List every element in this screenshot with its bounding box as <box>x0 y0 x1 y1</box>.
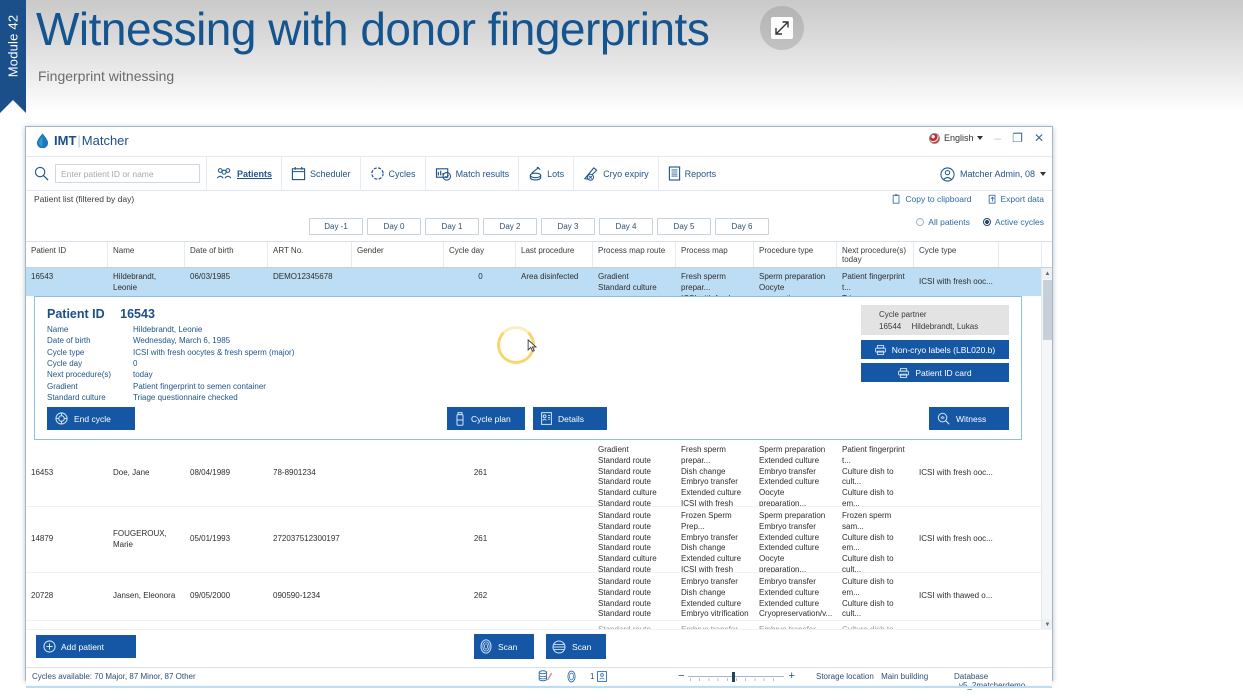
detail-title-label: Patient ID <box>47 307 105 321</box>
record-counter: 1 <box>590 671 607 682</box>
cycle-partner-box: Cycle partner 16544 Hildebrandt, Lukas <box>861 305 1009 335</box>
col-last-procedure[interactable]: Last procedure <box>516 242 593 267</box>
radio-all-patients-label: All patients <box>928 217 970 227</box>
table-row[interactable]: 14879 FOUGEROUX, Marie 05/01/1993 272037… <box>26 507 1052 573</box>
table-body: 16543 Hildebrandt, Leonie 06/03/1985 DEM… <box>26 268 1052 630</box>
cell-gender <box>352 268 444 296</box>
cell-process-map: Fresh sperm prepar... ICSI with fresh oo… <box>676 268 754 296</box>
detail-value: today <box>133 369 153 380</box>
module-tab-label: Module 42 <box>6 15 21 78</box>
zoom-track[interactable] <box>688 672 784 682</box>
detail-key: Cycle day <box>47 358 133 369</box>
export-icon <box>988 194 997 204</box>
detail-key: Standard culture <box>47 392 133 403</box>
match-results-icon <box>435 166 452 181</box>
close-button[interactable]: ✕ <box>1034 132 1044 144</box>
scrollbar-thumb[interactable] <box>1043 280 1052 340</box>
nav-label-patients: Patients <box>237 169 272 179</box>
non-cryo-labels-button[interactable]: Non-cryo labels (LBL020.b) <box>861 340 1009 359</box>
plus-circle-icon <box>43 640 56 653</box>
nav-item-patients[interactable]: Patients <box>206 157 281 191</box>
cell-next-procedures: Patient fingerprint t... Triage question… <box>837 268 914 296</box>
storage-location-value: Main building <box>876 672 928 681</box>
cell-name: Jansen, Eleonora <box>108 573 185 620</box>
cell-art-no: DEMO12345678 <box>268 268 352 296</box>
barcode-scan-icon <box>552 640 566 654</box>
witness-label: Witness <box>956 414 986 424</box>
col-process-map[interactable]: Process map <box>676 242 754 267</box>
page-title: Witnessing with donor fingerprints <box>36 2 709 56</box>
cell-last-procedure: Area disinfected <box>516 268 593 296</box>
details-label: Details <box>558 414 584 424</box>
calendar-icon <box>291 166 306 181</box>
radio-dot <box>916 218 924 226</box>
status-bar: Cycles available: 70 Major, 87 Minor, 87… <box>26 667 1052 685</box>
expand-icon[interactable] <box>760 6 804 50</box>
database-label: Database <box>954 672 988 681</box>
table-scrollbar[interactable]: ▲ ▼ <box>1041 268 1052 630</box>
col-cycle-day[interactable]: Cycle day <box>444 242 516 267</box>
cell-date-of-birth: 05/01/1993 <box>185 507 268 572</box>
chevron-down-icon <box>977 136 983 140</box>
cell-name: FOUGEROUX, Marie <box>108 507 185 572</box>
radio-dot <box>983 218 991 226</box>
fingerprint-status-icon[interactable] <box>567 670 576 683</box>
water-drop-icon <box>36 133 49 148</box>
search-input[interactable] <box>55 164 200 183</box>
day-tab--1[interactable]: Day -1 <box>309 218 363 235</box>
cell-patient-id: 20728 <box>26 573 108 620</box>
cell-name: Hildebrandt, Leonie <box>108 268 185 296</box>
id-card-icon <box>541 412 552 425</box>
avatar-icon <box>940 167 955 182</box>
non-cryo-labels-label: Non-cryo labels (LBL020.b) <box>892 345 995 355</box>
cell-next-procedures: Culture dish to em... Culture dish to cu… <box>837 573 914 620</box>
record-count-value: 1 <box>590 672 594 681</box>
minimize-button[interactable]: – <box>994 132 1001 144</box>
cell-process-map-route: Standard route Standard route Standard r… <box>593 507 676 572</box>
chevron-down-icon <box>1040 172 1046 176</box>
cell-process-map-route: Gradient Standard route Standard route S… <box>593 441 676 506</box>
nav-item-lots[interactable]: Lots <box>518 157 573 191</box>
cell-next-procedures: Patient fingerprint t... Culture dish to… <box>837 441 914 506</box>
scan-fingerprint-label: Scan <box>498 642 517 652</box>
add-patient-button[interactable]: Add patient <box>36 635 136 658</box>
database-edit-icon[interactable] <box>538 670 553 683</box>
printer-icon <box>875 345 886 355</box>
details-button[interactable]: Details <box>533 407 607 430</box>
detail-key: Cycle type <box>47 347 133 358</box>
col-gender[interactable]: Gender <box>352 242 444 267</box>
cell-last-procedure <box>516 507 593 572</box>
detail-value: Hildebrandt, Leonie <box>133 324 202 335</box>
cell-patient-id: 14879 <box>26 507 108 572</box>
nav-item-match-results[interactable]: Match results <box>425 157 519 191</box>
cryo-expiry-icon <box>583 166 599 181</box>
search-icon[interactable] <box>34 166 49 181</box>
app-logo: IMT|Matcher <box>36 133 129 148</box>
cell-gender <box>352 507 444 572</box>
cell-procedure-type: Sperm preparation Oocyte preparation... <box>754 268 837 296</box>
page-subtitle: Fingerprint witnessing <box>38 68 174 84</box>
cell-cycle-type: ICSI with fresh ooc... <box>914 441 999 506</box>
reports-icon <box>668 166 681 181</box>
window-titlebar: IMT|Matcher English – ❐ ✕ <box>26 127 1052 157</box>
cell-art-no: 78-8901234 <box>268 441 352 506</box>
col-name[interactable]: Name <box>108 242 185 267</box>
end-cycle-icon <box>55 412 68 425</box>
cycles-available-text: Cycles available: 70 Major, 87 Minor, 87… <box>32 672 196 681</box>
brand-suffix: Matcher <box>82 133 129 148</box>
module-tab-point <box>0 100 26 113</box>
people-icon <box>216 167 233 180</box>
patient-id-card-button[interactable]: Patient ID card <box>861 363 1009 382</box>
patient-list-label: Patient list (filtered by day) <box>34 194 134 204</box>
detail-value: Wednesday, March 6, 1985 <box>133 335 230 346</box>
fingerprint-icon <box>480 639 492 654</box>
nav-item-cycles[interactable]: Cycles <box>360 157 425 191</box>
cell-cycle-type: ICSI with fresh ooc... <box>914 507 999 572</box>
export-data-button[interactable]: Export data <box>988 194 1044 204</box>
cell-name: Doe, Jane <box>108 441 185 506</box>
radio-active-cycles[interactable]: Active cycles <box>983 217 1044 227</box>
patient-table: Patient ID Name Date of birth ART No. Ge… <box>26 241 1052 629</box>
list-toolbar: Patient list (filtered by day) Copy to c… <box>26 191 1052 211</box>
col-cycle-type[interactable]: Cycle type <box>914 242 999 267</box>
detail-value: ICSI with fresh oocytes & fresh sperm (m… <box>133 347 294 358</box>
radio-active-cycles-label: Active cycles <box>995 217 1044 227</box>
zoom-out-button[interactable]: − <box>678 671 684 682</box>
cell-process-map: Frozen Sperm Prep... Embryo transfer Dis… <box>676 507 754 572</box>
fingerprint-search-icon <box>937 412 950 425</box>
language-label: English <box>944 133 974 143</box>
cell-art-no: 090590-1234 <box>268 573 352 620</box>
table-row[interactable]: 16453 Doe, Jane 08/04/1989 78-8901234 26… <box>26 441 1052 507</box>
end-cycle-button[interactable]: End cycle <box>47 407 135 430</box>
cell-blank <box>999 507 1042 572</box>
clipboard-icon <box>892 194 901 204</box>
vial-icon <box>455 412 465 426</box>
nav-label-reports: Reports <box>685 169 717 179</box>
cell-date-of-birth: 09/05/2000 <box>185 573 268 620</box>
col-blank <box>999 242 1042 267</box>
cell-gender <box>352 441 444 506</box>
cycle-icon <box>370 166 385 181</box>
cell-process-map-route: Gradient Standard culture <box>593 268 676 296</box>
day-tab-1[interactable]: Day 1 <box>425 218 479 235</box>
cell-cycle-type: ICSI with fresh ooc... <box>914 268 999 296</box>
nav-label-scheduler: Scheduler <box>310 169 351 179</box>
main-navbar: Patients Scheduler Cycles <box>26 157 1052 191</box>
imt-matcher-window: IMT|Matcher English – ❐ ✕ <box>25 126 1053 681</box>
user-menu[interactable]: Matcher Admin, 08 <box>940 157 1046 191</box>
brand-prefix: IMT <box>54 133 76 148</box>
cell-date-of-birth: 06/03/1985 <box>185 268 268 296</box>
export-data-label: Export data <box>1001 194 1044 204</box>
cell-blank <box>999 268 1042 296</box>
zoom-in-button[interactable]: + <box>788 671 794 682</box>
radio-all-patients[interactable]: All patients <box>916 217 970 227</box>
cell-patient-id: 16543 <box>26 268 108 296</box>
detail-value: Patient fingerprint to semen container <box>133 381 266 392</box>
cell-patient-id: 16453 <box>26 441 108 506</box>
zoom-handle[interactable] <box>732 672 735 682</box>
cell-art-no: 272037512300197 <box>268 507 352 572</box>
day-tab-5[interactable]: Day 5 <box>657 218 711 235</box>
cell-process-map-route: Standard route Standard route Standard r… <box>593 573 676 620</box>
cell-cycle-day: 261 <box>444 441 516 506</box>
expand-arrow-icon <box>774 20 790 36</box>
footer-toolbar: Add patient Scan Scan <box>26 629 1052 667</box>
day-tab-3[interactable]: Day 3 <box>541 218 595 235</box>
cycle-partner-name: Hildebrandt, Lukas <box>903 322 978 331</box>
day-tab-6[interactable]: Day 6 <box>715 218 769 235</box>
mouse-cursor-icon <box>527 339 538 353</box>
detail-patient-id: 16543 <box>120 307 155 321</box>
user-name: Matcher Admin, 08 <box>960 169 1035 179</box>
cell-blank <box>999 573 1042 620</box>
detail-key: Date of birth <box>47 335 133 346</box>
day-tab-0[interactable]: Day 0 <box>367 218 421 235</box>
detail-value: 0 <box>133 358 137 369</box>
scan-barcode-label: Scan <box>572 642 591 652</box>
cell-cycle-type: ICSI with thawed o... <box>914 573 999 620</box>
nav-label-match-results: Match results <box>456 169 510 179</box>
language-selector[interactable]: English <box>929 133 984 144</box>
day-tab-2[interactable]: Day 2 <box>483 218 537 235</box>
cell-last-procedure <box>516 573 593 620</box>
detail-key: Gradient <box>47 381 133 392</box>
col-patient-id[interactable]: Patient ID <box>26 242 108 267</box>
day-filter-bar: Day -1 Day 0 Day 1 Day 2 Day 3 Day 4 Day… <box>26 211 1052 241</box>
lots-icon <box>528 166 543 181</box>
cell-process-map: Fresh sperm prepar... Dish change Embryo… <box>676 441 754 506</box>
cycle-partner-label: Cycle partner <box>879 309 1009 321</box>
cell-process-map: Embryo transfer Dish change Extended cul… <box>676 573 754 620</box>
cell-gender <box>352 573 444 620</box>
cell-procedure-type: Sperm preparation Embryo transfer Extend… <box>754 507 837 572</box>
restore-button[interactable]: ❐ <box>1012 132 1023 144</box>
cell-cycle-day: 261 <box>444 507 516 572</box>
nav-label-lots: Lots <box>547 169 564 179</box>
detail-field-standard-culture: Standard culture Triage questionnaire ch… <box>47 392 1009 403</box>
witness-button[interactable]: Witness <box>929 407 1009 430</box>
patient-detail-panel: Patient ID 16543 Name Hildebrandt, Leoni… <box>34 296 1022 440</box>
col-art-no[interactable]: ART No. <box>268 242 352 267</box>
col-next-procedures[interactable]: Next procedure(s) today <box>837 242 914 267</box>
cycle-plan-label: Cycle plan <box>471 414 511 424</box>
person-count-icon <box>597 671 607 682</box>
nav-items: Patients Scheduler Cycles <box>206 157 725 191</box>
col-process-map-route[interactable]: Process map route <box>593 242 676 267</box>
cell-last-procedure <box>516 441 593 506</box>
module-tab: Module 42 <box>0 0 26 100</box>
table-row[interactable]: 20728 Jansen, Eleonora 09/05/2000 090590… <box>26 573 1052 621</box>
cell-procedure-type: Embryo transfer Extended culture Extende… <box>754 573 837 620</box>
cell-cycle-day: 262 <box>444 573 516 620</box>
table-header-row: Patient ID Name Date of birth ART No. Ge… <box>26 242 1052 268</box>
nav-item-cryo-expiry[interactable]: Cryo expiry <box>573 157 658 191</box>
detail-key: Name <box>47 324 133 335</box>
storage-location: Storage location Main building <box>816 672 928 681</box>
day-tab-4[interactable]: Day 4 <box>599 218 653 235</box>
status-bar-accent <box>26 686 1052 688</box>
slide-header: Module 42 Witnessing with donor fingerpr… <box>0 0 1243 112</box>
flag-icon <box>929 133 940 144</box>
cell-date-of-birth: 08/04/1989 <box>185 441 268 506</box>
col-date-of-birth[interactable]: Date of birth <box>185 242 268 267</box>
printer-icon <box>898 368 909 378</box>
cycle-plan-button[interactable]: Cycle plan <box>447 407 525 430</box>
detail-field-gradient: Gradient Patient fingerprint to semen co… <box>47 381 1009 392</box>
storage-location-label: Storage location <box>816 672 874 681</box>
detail-key: Next procedure(s) <box>47 369 133 380</box>
scan-fingerprint-button[interactable]: Scan <box>474 634 534 659</box>
detail-value: Triage questionnaire checked <box>133 392 238 403</box>
nav-label-cryo-expiry: Cryo expiry <box>603 169 649 179</box>
scan-barcode-button[interactable]: Scan <box>546 634 606 659</box>
add-patient-label: Add patient <box>61 642 104 652</box>
table-row[interactable]: 16543 Hildebrandt, Leonie 06/03/1985 DEM… <box>26 268 1052 296</box>
scroll-up-icon[interactable]: ▲ <box>1042 268 1052 279</box>
zoom-slider[interactable]: − + <box>678 671 795 682</box>
copy-to-clipboard-label: Copy to clipboard <box>905 194 971 204</box>
cell-procedure-type: Sperm preparation Extended culture Embry… <box>754 441 837 506</box>
cell-blank <box>999 441 1042 506</box>
nav-label-cycles: Cycles <box>389 169 416 179</box>
col-procedure-type[interactable]: Procedure type <box>754 242 837 267</box>
cell-cycle-day: 0 <box>444 268 516 296</box>
cell-next-procedures: Frozen sperm sam... Culture dish to em..… <box>837 507 914 572</box>
end-cycle-label: End cycle <box>74 414 111 424</box>
cycle-partner-id: 16544 <box>879 322 901 331</box>
copy-to-clipboard-button[interactable]: Copy to clipboard <box>892 194 971 204</box>
patient-id-card-label: Patient ID card <box>915 368 971 378</box>
nav-item-scheduler[interactable]: Scheduler <box>281 157 360 191</box>
nav-item-reports[interactable]: Reports <box>658 157 726 191</box>
